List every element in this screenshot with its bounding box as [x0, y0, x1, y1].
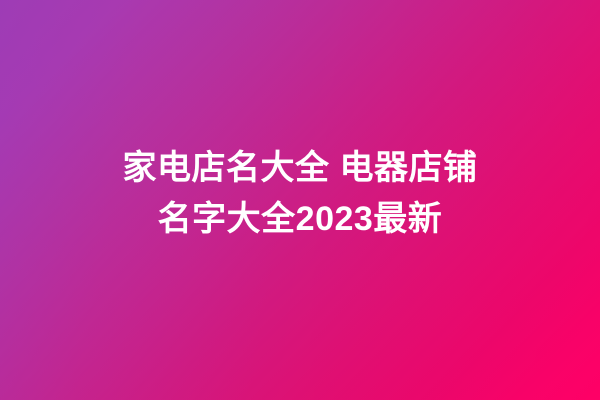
- banner-title-line-2: 名字大全2023最新: [60, 194, 540, 245]
- banner-image: 家电店名大全 电器店铺 名字大全2023最新: [0, 0, 600, 400]
- banner-title: 家电店名大全 电器店铺 名字大全2023最新: [0, 143, 600, 245]
- banner-title-line-1: 家电店名大全 电器店铺: [60, 143, 540, 194]
